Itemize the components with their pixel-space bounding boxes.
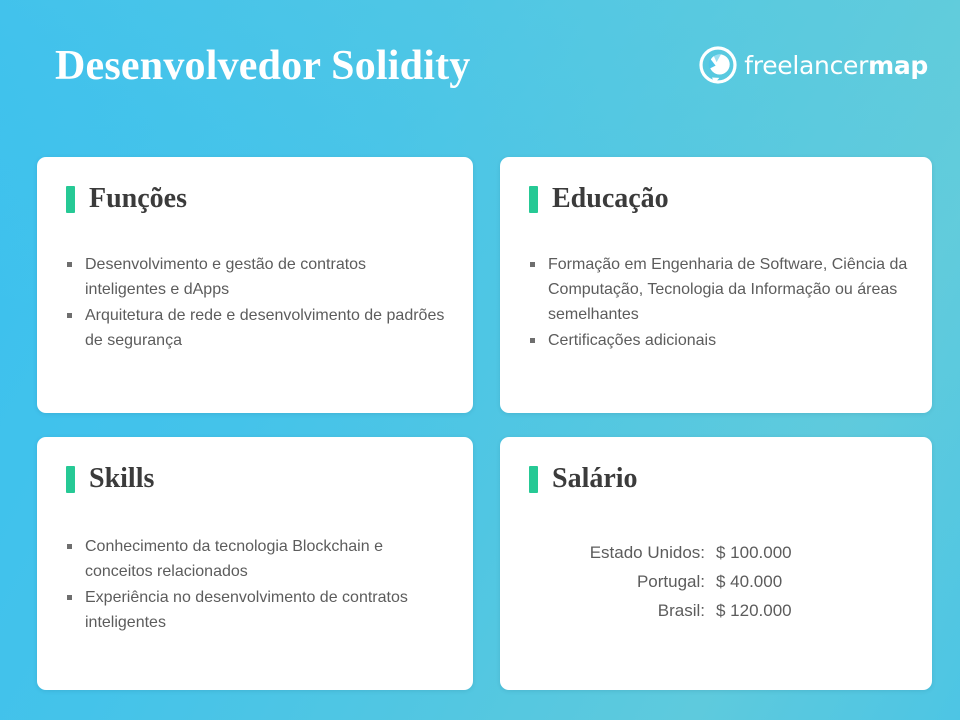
salary-country-label: Brasil: [500, 596, 716, 625]
salary-amount-value: $ 40.000 [716, 567, 932, 596]
aperture-circle-icon [699, 46, 737, 84]
bullet-list: Desenvolvimento e gestão de contratos in… [37, 214, 473, 353]
card-header: Salário [500, 437, 932, 494]
infographic-poster: Desenvolvedor Solidity freelancermap Fun [0, 0, 960, 720]
cards-grid: Funções Desenvolvimento e gestão de cont… [37, 157, 932, 690]
list-item-text: Arquitetura de rede e desenvolvimento de… [85, 303, 451, 353]
table-row: Portugal: $ 40.000 [500, 567, 932, 596]
card-header: Funções [37, 157, 473, 214]
list-item: Desenvolvimento e gestão de contratos in… [67, 252, 451, 302]
list-item: Formação em Engenharia de Software, Ciên… [530, 252, 910, 327]
header: Desenvolvedor Solidity freelancermap [0, 0, 960, 130]
page-title: Desenvolvedor Solidity [55, 41, 470, 91]
accent-bar-icon [529, 186, 538, 213]
list-item: Experiência no desenvolvimento de contra… [67, 585, 451, 635]
list-item-text: Desenvolvimento e gestão de contratos in… [85, 252, 451, 302]
salary-country-label: Estado Unidos: [500, 538, 716, 567]
card-header: Skills [37, 437, 473, 494]
logo-text-map: map [868, 51, 928, 80]
accent-bar-icon [66, 466, 75, 493]
freelancermap-logo: freelancermap [699, 43, 928, 87]
card-title: Skills [89, 464, 154, 494]
list-item: Certificações adicionais [530, 328, 910, 353]
square-bullet-icon [67, 262, 72, 267]
card-title: Salário [552, 464, 638, 494]
table-row: Estado Unidos: $ 100.000 [500, 538, 932, 567]
card-skills: Skills Conhecimento da tecnologia Blockc… [37, 437, 473, 690]
card-title: Educação [552, 184, 669, 214]
logo-wordmark: freelancermap [744, 53, 928, 78]
list-item: Arquitetura de rede e desenvolvimento de… [67, 303, 451, 353]
salary-country-label: Portugal: [500, 567, 716, 596]
table-row: Brasil: $ 120.000 [500, 596, 932, 625]
list-item-text: Experiência no desenvolvimento de contra… [85, 585, 451, 635]
card-title: Funções [89, 184, 187, 214]
list-item: Conhecimento da tecnologia Blockchain e … [67, 534, 451, 584]
logo-text-freelancer: freelancer [744, 51, 868, 80]
bullet-list: Conhecimento da tecnologia Blockchain e … [37, 494, 473, 635]
card-salario: Salário Estado Unidos: $ 100.000 Portuga… [500, 437, 932, 690]
square-bullet-icon [530, 262, 535, 267]
card-funcoes: Funções Desenvolvimento e gestão de cont… [37, 157, 473, 413]
card-educacao: Educação Formação em Engenharia de Softw… [500, 157, 932, 413]
square-bullet-icon [67, 313, 72, 318]
square-bullet-icon [67, 544, 72, 549]
list-item-text: Conhecimento da tecnologia Blockchain e … [85, 534, 451, 584]
list-item-text: Certificações adicionais [548, 328, 716, 353]
salary-amount-value: $ 100.000 [716, 538, 932, 567]
bullet-list: Formação em Engenharia de Software, Ciên… [500, 214, 932, 353]
card-header: Educação [500, 157, 932, 214]
salary-amount-value: $ 120.000 [716, 596, 932, 625]
accent-bar-icon [66, 186, 75, 213]
salary-table: Estado Unidos: $ 100.000 Portugal: $ 40.… [500, 538, 932, 625]
accent-bar-icon [529, 466, 538, 493]
square-bullet-icon [67, 595, 72, 600]
list-item-text: Formação em Engenharia de Software, Ciên… [548, 252, 910, 327]
square-bullet-icon [530, 338, 535, 343]
